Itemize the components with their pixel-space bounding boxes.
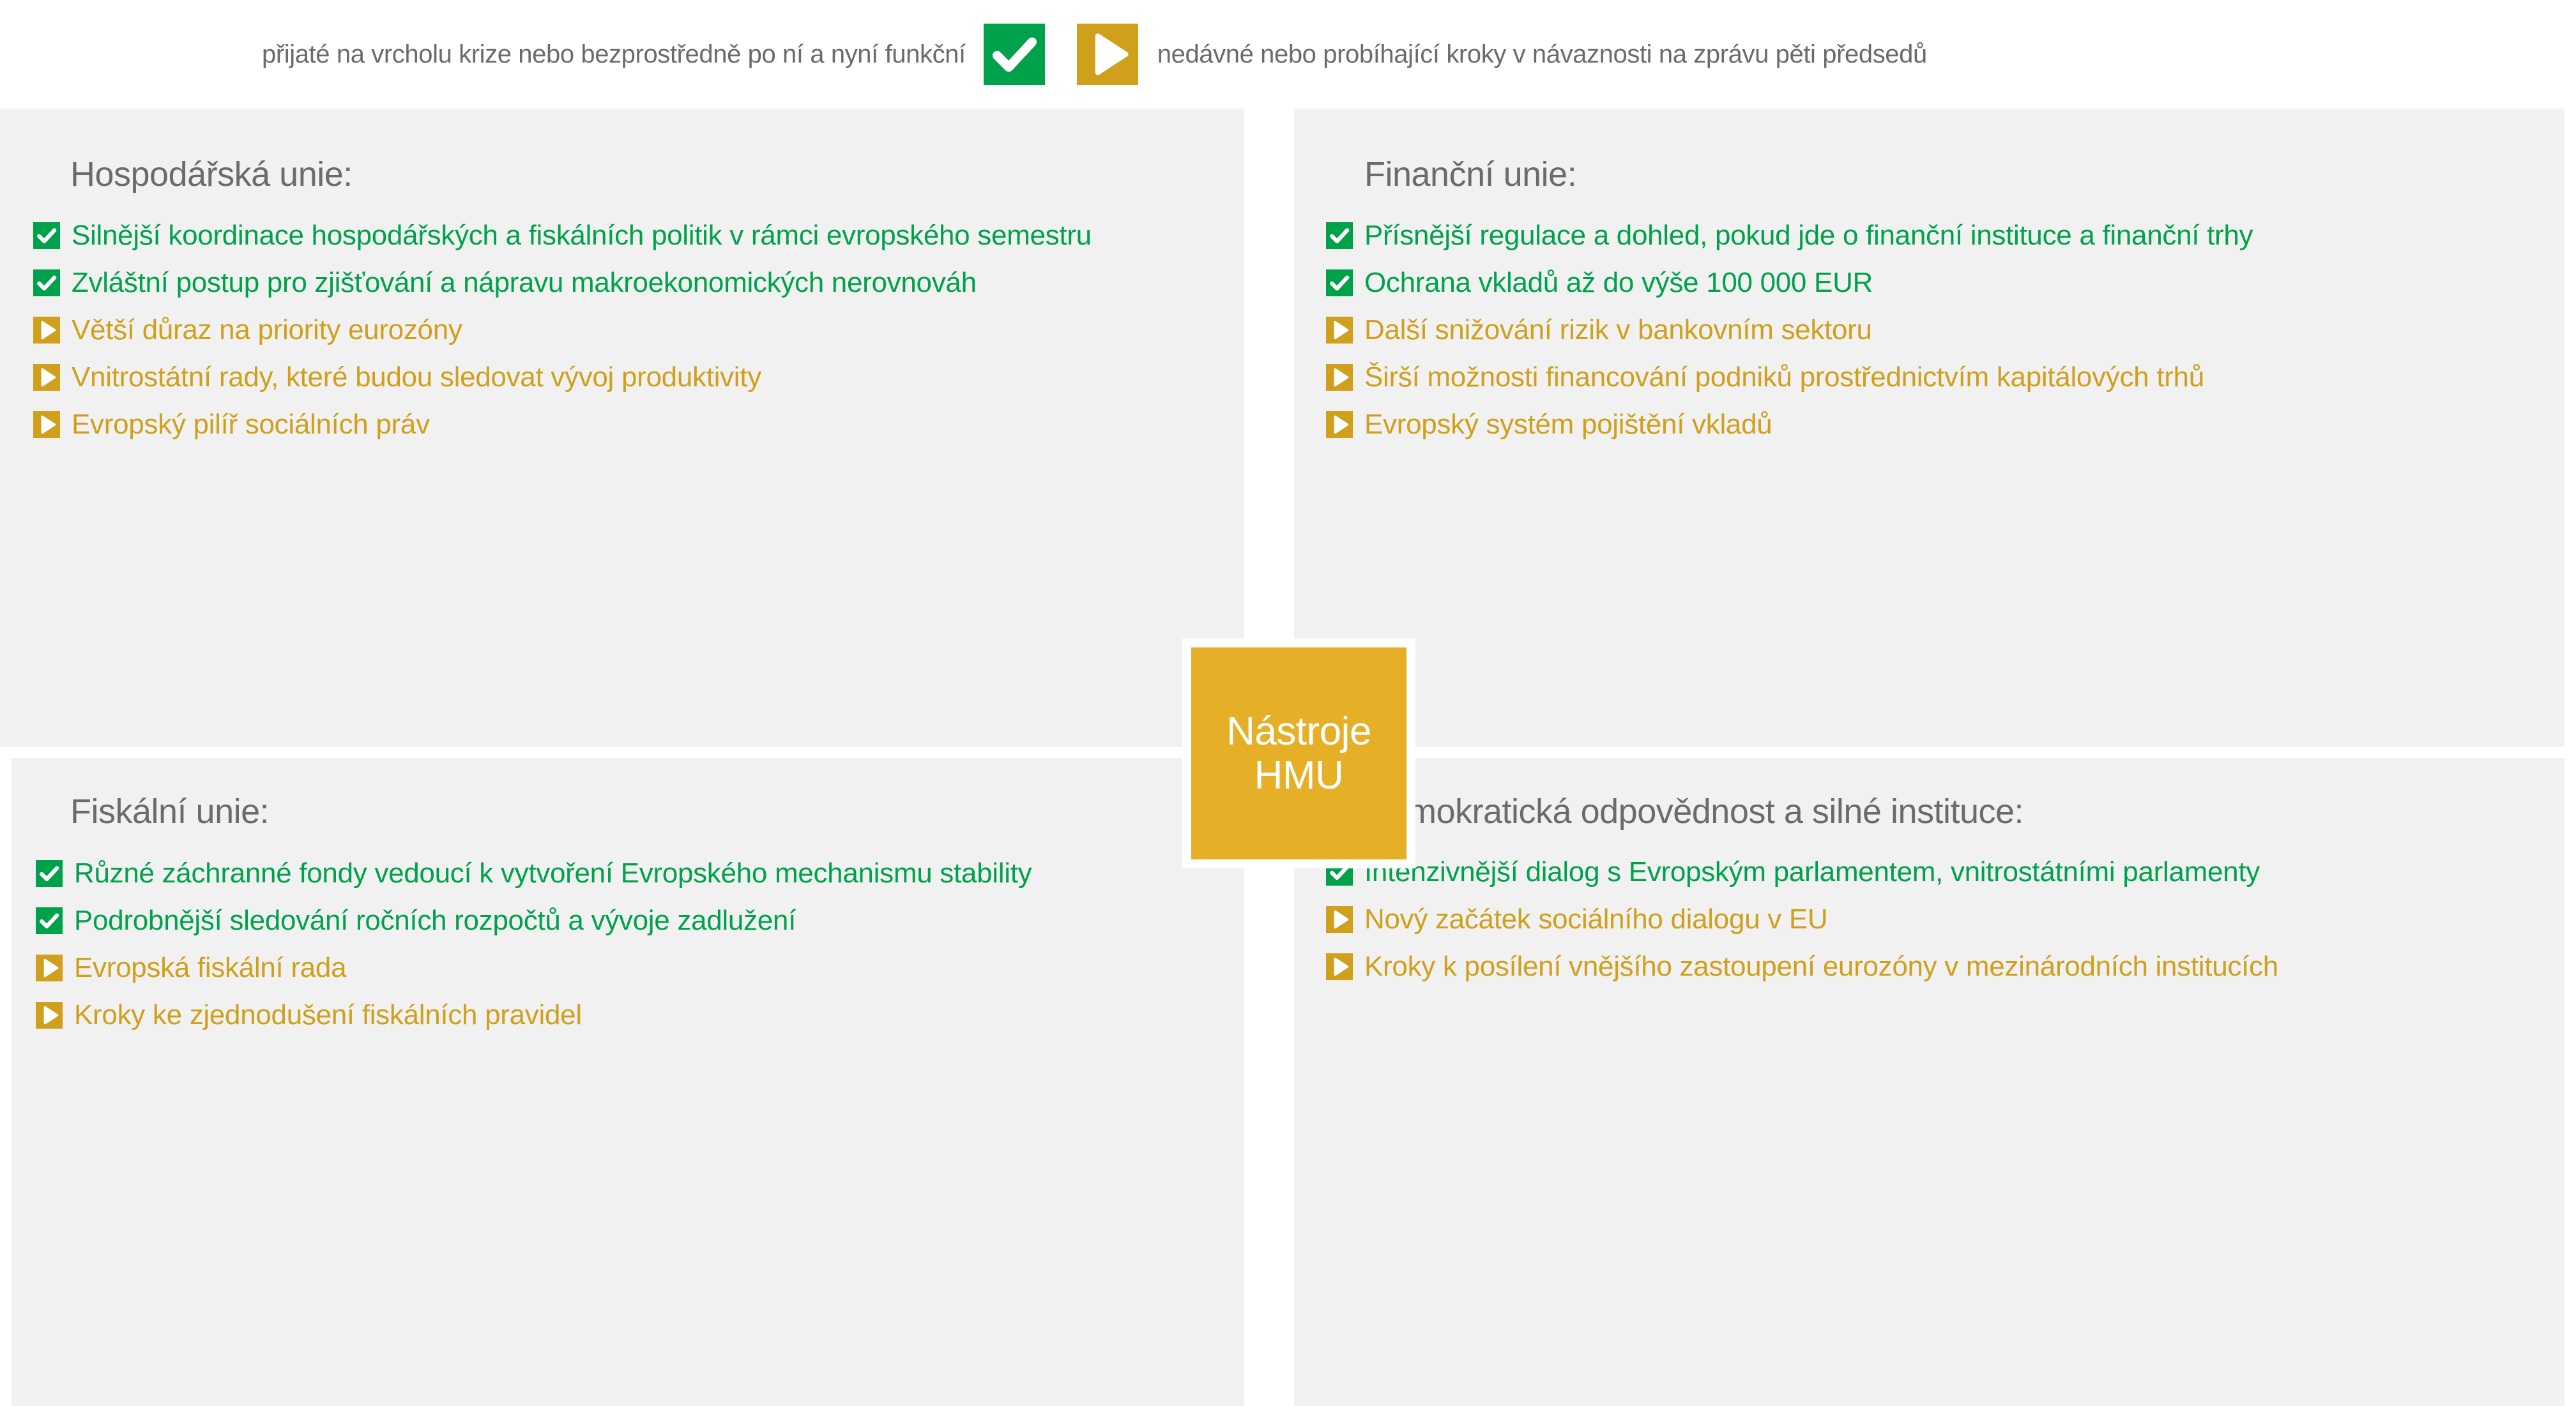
panel-title-economic-union: Hospodářská unie: (70, 155, 353, 194)
list-item: Silnější koordinace hospodářských a fisk… (33, 217, 1202, 254)
bullet-list-economic-union: Silnější koordinace hospodářských a fisk… (33, 217, 1202, 453)
check-square-icon (33, 269, 60, 296)
panel-economic-union: Hospodářská unie: Silnější koordinace ho… (0, 109, 1244, 747)
play-square-icon (1326, 906, 1353, 933)
play-square-icon (33, 317, 60, 344)
list-item-label: Podrobnější sledování ročních rozpočtů a… (74, 902, 796, 939)
list-item: Intenzivnější dialog s Evropským parlame… (1326, 854, 2540, 891)
legend-item-completed: přijaté na vrcholu krize nebo bezprostře… (262, 24, 1045, 85)
list-item: Různé záchranné fondy vedoucí k vytvořen… (36, 855, 1205, 892)
list-item-label: Evropský pilíř sociálních práv (72, 406, 430, 443)
check-square-icon (1326, 269, 1353, 296)
panel-fiscal-union: Fiskální unie: Různé záchranné fondy ved… (11, 758, 1244, 1406)
bullet-list-financial-union: Přísnější regulace a dohled, pokud jde o… (1326, 217, 2540, 453)
play-square-icon (1326, 411, 1353, 438)
list-item: Přísnější regulace a dohled, pokud jde o… (1326, 217, 2540, 254)
list-item-label: Větší důraz na priority eurozóny (72, 312, 462, 349)
list-item-label: Různé záchranné fondy vedoucí k vytvořen… (74, 855, 1032, 892)
legend-item-ongoing: nedávné nebo probíhající kroky v návazno… (1077, 24, 1927, 85)
list-item-label: Přísnější regulace a dohled, pokud jde o… (1364, 217, 2253, 254)
bullet-list-democratic-accountability: Intenzivnější dialog s Evropským parlame… (1326, 854, 2540, 995)
check-square-icon (984, 24, 1045, 85)
legend-label-ongoing: nedávné nebo probíhající kroky v návazno… (1157, 40, 1927, 69)
center-badge-line-2: HMU (1254, 753, 1344, 797)
play-square-icon (36, 955, 63, 981)
list-item: Kroky ke zjednodušení fiskálních pravide… (36, 997, 1205, 1034)
list-item-label: Kroky ke zjednodušení fiskálních pravide… (74, 997, 582, 1034)
list-item: Podrobnější sledování ročních rozpočtů a… (36, 902, 1205, 939)
panel-democratic-accountability: Demokratická odpovědnost a silné institu… (1294, 758, 2565, 1406)
center-badge-line-1: Nástroje (1226, 709, 1371, 753)
list-item: Nový začátek sociálního dialogu v EU (1326, 901, 2540, 938)
play-square-icon (1326, 364, 1353, 391)
list-item: Evropský systém pojištění vkladů (1326, 406, 2540, 443)
center-badge-emu-instruments: Nástroje HMU (1182, 639, 1415, 868)
panel-financial-union: Finanční unie: Přísnější regulace a dohl… (1294, 109, 2565, 747)
list-item-label: Zvláštní postup pro zjišťování a nápravu… (72, 264, 977, 301)
list-item: Evropský pilíř sociálních práv (33, 406, 1202, 443)
list-item-label: Širší možnosti financování podniků prost… (1364, 359, 2204, 396)
panel-title-democratic-accountability: Demokratická odpovědnost a silné institu… (1364, 792, 2023, 831)
play-square-icon (33, 364, 60, 391)
legend-label-completed: přijaté na vrcholu krize nebo bezprostře… (262, 40, 966, 69)
list-item-label: Evropská fiskální rada (74, 949, 346, 986)
check-square-icon (36, 860, 63, 887)
list-item-label: Intenzivnější dialog s Evropským parlame… (1364, 854, 2260, 891)
legend: přijaté na vrcholu krize nebo bezprostře… (0, 0, 2576, 109)
list-item: Vnitrostátní rady, které budou sledovat … (33, 359, 1202, 396)
list-item-label: Evropský systém pojištění vkladů (1364, 406, 1772, 443)
list-item-label: Silnější koordinace hospodářských a fisk… (72, 217, 1092, 254)
list-item-label: Ochrana vkladů až do výše 100 000 EUR (1364, 264, 1873, 301)
check-square-icon (36, 907, 63, 934)
list-item: Kroky k posílení vnějšího zastoupení eur… (1326, 948, 2540, 985)
check-square-icon (1326, 222, 1353, 249)
play-square-icon (33, 411, 60, 438)
list-item: Širší možnosti financování podniků prost… (1326, 359, 2540, 396)
check-square-icon (33, 222, 60, 249)
list-item: Ochrana vkladů až do výše 100 000 EUR (1326, 264, 2540, 301)
list-item-label: Další snižování rizik v bankovním sektor… (1364, 312, 1872, 349)
play-square-icon (1326, 317, 1353, 344)
play-square-icon (1077, 24, 1138, 85)
bullet-list-fiscal-union: Různé záchranné fondy vedoucí k vytvořen… (36, 855, 1205, 1044)
list-item-label: Nový začátek sociálního dialogu v EU (1364, 901, 1827, 938)
list-item: Další snižování rizik v bankovním sektor… (1326, 312, 2540, 349)
list-item: Zvláštní postup pro zjišťování a nápravu… (33, 264, 1202, 301)
list-item-label: Vnitrostátní rady, které budou sledovat … (72, 359, 761, 396)
list-item: Větší důraz na priority eurozóny (33, 312, 1202, 349)
play-square-icon (36, 1002, 63, 1029)
panel-title-financial-union: Finanční unie: (1364, 155, 1576, 194)
play-square-icon (1326, 953, 1353, 980)
panel-title-fiscal-union: Fiskální unie: (70, 792, 269, 831)
list-item: Evropská fiskální rada (36, 949, 1205, 986)
list-item-label: Kroky k posílení vnějšího zastoupení eur… (1364, 948, 2278, 985)
